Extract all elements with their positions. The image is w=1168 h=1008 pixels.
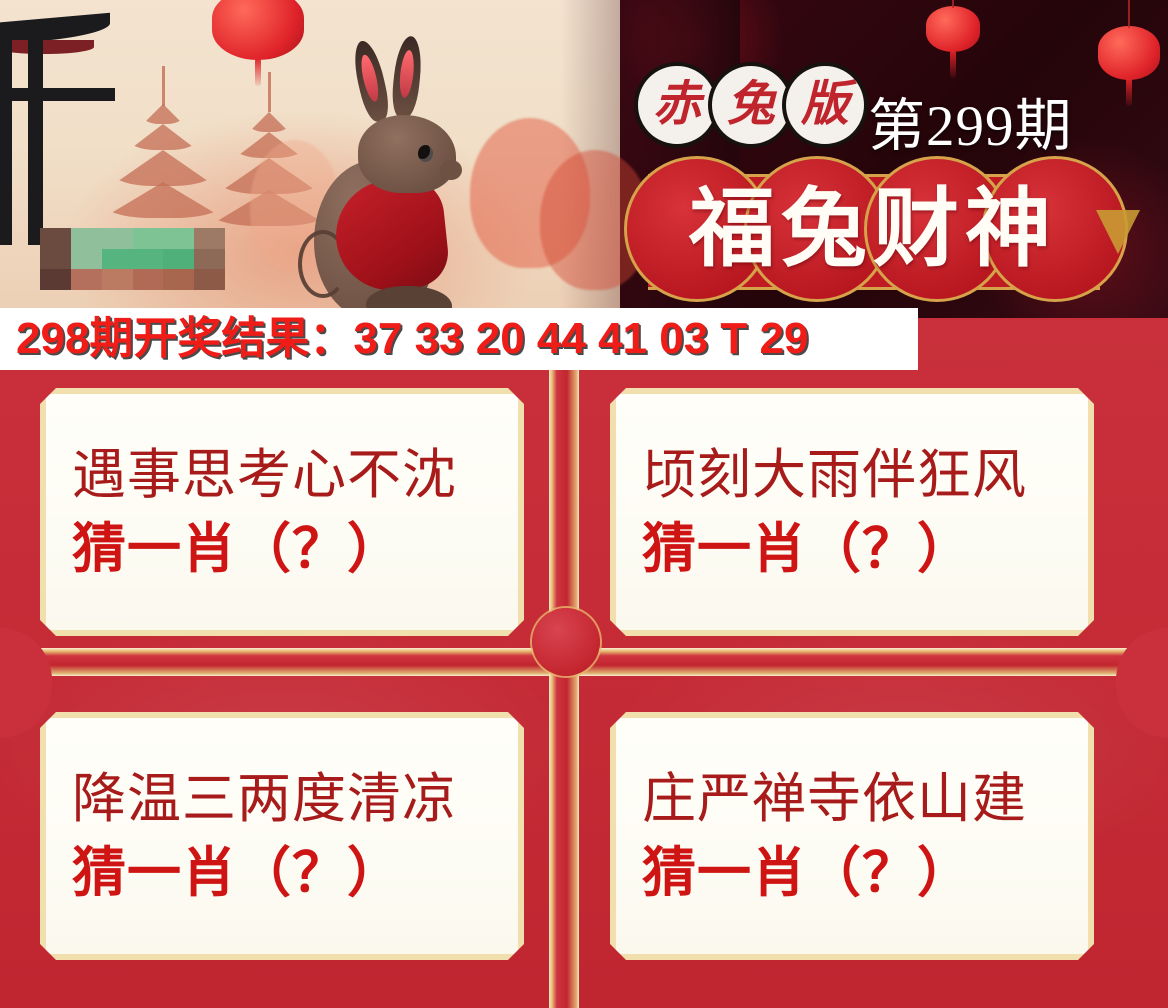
riddle-answer-1: 猜一肖（？）	[72, 520, 492, 579]
mosaic-tile	[194, 249, 225, 270]
lantern-icon-3	[1098, 26, 1160, 80]
riddle-answer-4: 猜一肖（？）	[642, 844, 1062, 903]
lantern-icon-2	[926, 6, 980, 52]
riddle-panel-1[interactable]: 遇事思考心不沈 猜一肖（？）	[40, 388, 524, 636]
riddle-text-3: 降温三两度清凉	[72, 768, 492, 830]
draw-result-text: 298期开奖结果：37 33 20 44 41 03 T 29	[0, 317, 808, 361]
mosaic-tile	[71, 228, 102, 249]
mosaic-tile	[163, 228, 194, 249]
center-knot-decor	[532, 608, 600, 676]
mosaic-tile	[133, 249, 164, 270]
mosaic-tile	[40, 249, 71, 270]
rabbit-ear-front	[390, 35, 424, 119]
riddle-answer-2: 猜一肖（？）	[642, 520, 1062, 579]
gold-tassel-decor	[1096, 210, 1140, 254]
poster-root: 赤 兔 版 第299期 福兔财神 298期开奖结果：37 33 20 44 41…	[0, 0, 1168, 1008]
mosaic-tile	[163, 269, 194, 290]
riddle-panel-2[interactable]: 顷刻大雨伴狂风 猜一肖（？）	[610, 388, 1094, 636]
riddle-panel-3[interactable]: 降温三两度清凉 猜一肖（？）	[40, 712, 524, 960]
mosaic-tile	[71, 269, 102, 290]
rabbit-head	[358, 115, 456, 193]
riddle-answer-3: 猜一肖（？）	[72, 844, 492, 903]
riddle-panel-4[interactable]: 庄严禅寺依山建 猜一肖（？）	[610, 712, 1094, 960]
rabbit-snout	[440, 160, 462, 180]
brand-title-cloud: 福兔财神	[624, 156, 1122, 302]
mosaic-censor-block	[40, 228, 225, 290]
rabbit-eye	[418, 145, 433, 162]
torii-gate-pillar-left	[0, 30, 12, 245]
mosaic-tile	[163, 249, 194, 270]
edition-badge: 赤 兔 版	[634, 62, 868, 148]
brand-title-text: 福兔财神	[624, 156, 1122, 302]
mosaic-tile	[71, 249, 102, 270]
mosaic-tile	[40, 269, 71, 290]
lantern-icon-1	[212, 0, 304, 60]
mosaic-tile	[194, 269, 225, 290]
mosaic-tile	[102, 249, 133, 270]
rabbit-illustration	[300, 40, 490, 310]
torii-gate-pillar-right	[28, 30, 43, 245]
mosaic-tile	[133, 228, 164, 249]
riddle-text-1: 遇事思考心不沈	[72, 444, 492, 506]
draw-result-banner: 298期开奖结果：37 33 20 44 41 03 T 29	[0, 308, 918, 370]
mosaic-tile	[102, 228, 133, 249]
edition-badge-char-3: 版	[782, 62, 868, 148]
mosaic-tile	[133, 269, 164, 290]
mosaic-tile	[40, 228, 71, 249]
riddle-text-4: 庄严禅寺依山建	[642, 768, 1062, 830]
riddle-text-2: 顷刻大雨伴狂风	[642, 444, 1062, 506]
mosaic-tile	[102, 269, 133, 290]
torii-gate-beam	[0, 88, 115, 101]
mosaic-tile	[194, 228, 225, 249]
rabbit-ear-back	[349, 38, 393, 124]
issue-number-label: 第299期	[868, 98, 1073, 155]
hero-illustration: 赤 兔 版 第299期 福兔财神	[0, 0, 1168, 318]
